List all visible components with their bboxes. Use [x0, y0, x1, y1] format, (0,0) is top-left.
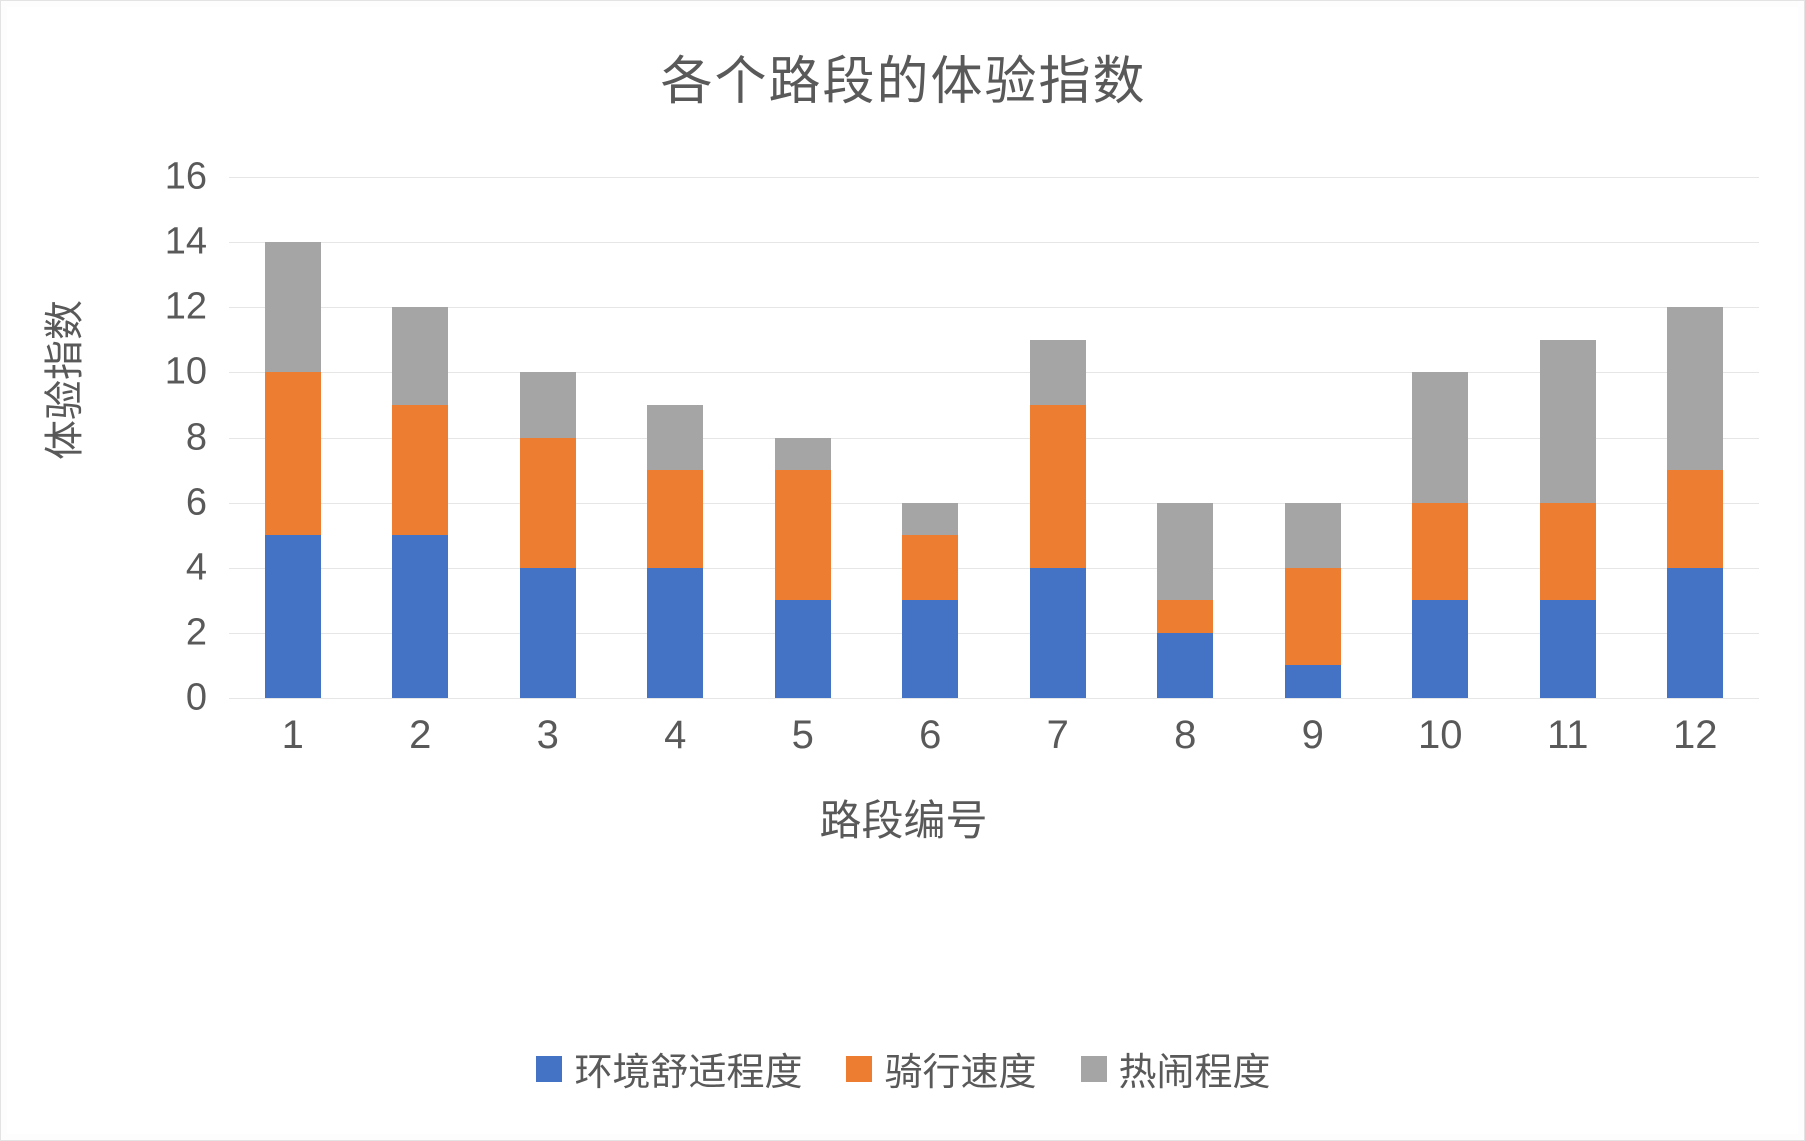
bar-stack[interactable]	[392, 307, 448, 698]
bar-group[interactable]	[1632, 177, 1760, 698]
bar-segment[interactable]	[775, 600, 831, 698]
bar-stack[interactable]	[775, 438, 831, 699]
bar-stack[interactable]	[1667, 307, 1723, 698]
bar-segment[interactable]	[392, 405, 448, 535]
legend-label: 热闹程度	[1119, 1041, 1271, 1096]
bar-segment[interactable]	[1030, 405, 1086, 568]
bar-segment[interactable]	[1667, 307, 1723, 470]
bar-group[interactable]	[1504, 177, 1632, 698]
bar-stack[interactable]	[902, 503, 958, 698]
bar-group[interactable]	[1377, 177, 1505, 698]
chart-legend: 环境舒适程度骑行速度热闹程度	[1, 1041, 1805, 1096]
bar-segment[interactable]	[775, 438, 831, 471]
bar-segment[interactable]	[1157, 633, 1213, 698]
y-tick-label: 4	[186, 546, 207, 589]
x-tick-label: 8	[1122, 713, 1250, 758]
bar-segment[interactable]	[1285, 665, 1341, 698]
x-tick-label: 12	[1632, 713, 1760, 758]
bar-stack[interactable]	[1540, 340, 1596, 698]
bar-segment[interactable]	[265, 242, 321, 372]
bar-stack[interactable]	[1030, 340, 1086, 698]
bar-group[interactable]	[484, 177, 612, 698]
chart-title: 各个路段的体验指数	[1, 39, 1805, 114]
bar-segment[interactable]	[775, 470, 831, 600]
y-tick-label: 16	[165, 156, 207, 199]
legend-label: 环境舒适程度	[574, 1041, 802, 1096]
legend-swatch-icon	[1081, 1056, 1107, 1082]
legend-swatch-icon	[536, 1056, 562, 1082]
bar-segment[interactable]	[1157, 503, 1213, 601]
y-tick-label: 2	[186, 611, 207, 654]
bar-segment[interactable]	[1540, 340, 1596, 503]
bar-group[interactable]	[739, 177, 867, 698]
bar-segment[interactable]	[1285, 568, 1341, 666]
x-axis-title: 路段编号	[1, 787, 1805, 848]
x-tick-label: 10	[1377, 713, 1505, 758]
y-axis-tick-labels: 1614121086420	[121, 177, 207, 698]
bar-stack[interactable]	[520, 372, 576, 698]
x-tick-label: 6	[867, 713, 995, 758]
y-tick-label: 6	[186, 481, 207, 524]
bar-segment[interactable]	[265, 372, 321, 535]
bar-group[interactable]	[994, 177, 1122, 698]
bar-segment[interactable]	[1030, 340, 1086, 405]
bar-stack[interactable]	[1285, 503, 1341, 698]
legend-label: 骑行速度	[884, 1041, 1036, 1096]
bar-segment[interactable]	[392, 535, 448, 698]
bars-layer	[229, 177, 1759, 698]
bar-segment[interactable]	[1285, 503, 1341, 568]
chart-container: 各个路段的体验指数 体验指数 1614121086420 12345678910…	[0, 0, 1805, 1141]
legend-item[interactable]: 骑行速度	[846, 1041, 1036, 1096]
bar-segment[interactable]	[902, 600, 958, 698]
bar-stack[interactable]	[1412, 372, 1468, 698]
x-tick-label: 3	[484, 713, 612, 758]
bar-segment[interactable]	[392, 307, 448, 405]
x-tick-label: 7	[994, 713, 1122, 758]
y-axis-title: 体验指数	[32, 270, 90, 490]
y-tick-label: 14	[165, 221, 207, 264]
bar-group[interactable]	[1249, 177, 1377, 698]
plot-area	[229, 177, 1759, 698]
bar-segment[interactable]	[1540, 600, 1596, 698]
y-tick-label: 10	[165, 351, 207, 394]
bar-segment[interactable]	[265, 535, 321, 698]
bar-segment[interactable]	[1540, 503, 1596, 601]
bar-segment[interactable]	[647, 568, 703, 698]
bar-stack[interactable]	[1157, 503, 1213, 698]
y-tick-label: 12	[165, 286, 207, 329]
bar-group[interactable]	[1122, 177, 1250, 698]
x-tick-label: 1	[229, 713, 357, 758]
bar-stack[interactable]	[265, 242, 321, 698]
bar-stack[interactable]	[647, 405, 703, 698]
legend-swatch-icon	[846, 1056, 872, 1082]
bar-group[interactable]	[867, 177, 995, 698]
bar-group[interactable]	[357, 177, 485, 698]
bar-segment[interactable]	[1667, 470, 1723, 568]
bar-group[interactable]	[229, 177, 357, 698]
gridline	[229, 698, 1759, 699]
bar-segment[interactable]	[520, 438, 576, 568]
bar-segment[interactable]	[647, 405, 703, 470]
x-axis-tick-labels: 123456789101112	[229, 713, 1759, 758]
x-tick-label: 5	[739, 713, 867, 758]
x-tick-label: 11	[1504, 713, 1632, 758]
bar-segment[interactable]	[1412, 503, 1468, 601]
legend-item[interactable]: 环境舒适程度	[536, 1041, 802, 1096]
bar-segment[interactable]	[1667, 568, 1723, 698]
x-tick-label: 2	[357, 713, 485, 758]
bar-segment[interactable]	[902, 503, 958, 536]
bar-segment[interactable]	[1412, 600, 1468, 698]
y-tick-label: 0	[186, 677, 207, 720]
legend-item[interactable]: 热闹程度	[1081, 1041, 1271, 1096]
x-tick-label: 9	[1249, 713, 1377, 758]
bar-group[interactable]	[612, 177, 740, 698]
bar-segment[interactable]	[1412, 372, 1468, 502]
bar-segment[interactable]	[1030, 568, 1086, 698]
bar-segment[interactable]	[520, 372, 576, 437]
bar-segment[interactable]	[1157, 600, 1213, 633]
bar-segment[interactable]	[647, 470, 703, 568]
bar-segment[interactable]	[520, 568, 576, 698]
x-tick-label: 4	[612, 713, 740, 758]
y-tick-label: 8	[186, 416, 207, 459]
bar-segment[interactable]	[902, 535, 958, 600]
